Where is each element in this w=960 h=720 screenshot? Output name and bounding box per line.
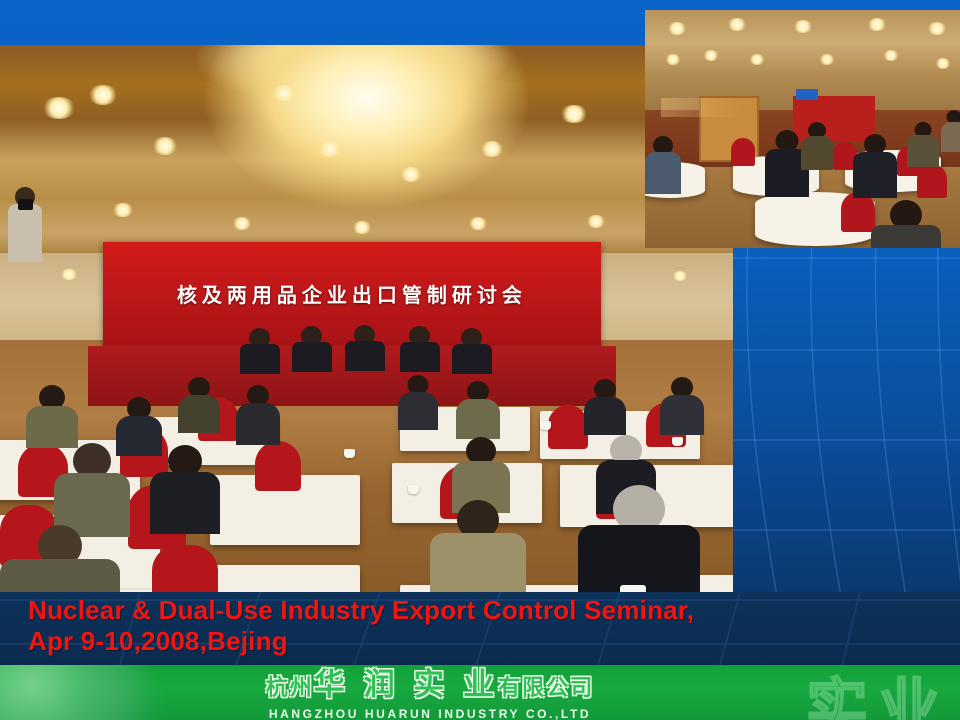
company-main-cn: 华 润 实 业	[314, 667, 498, 703]
photographer	[8, 187, 42, 261]
banner-title-text: 核及两用品企业出口管制研讨会	[177, 279, 527, 308]
chair	[255, 441, 301, 491]
chair	[548, 405, 588, 449]
attendee	[853, 134, 897, 196]
chair	[152, 545, 218, 592]
attendee	[871, 200, 941, 248]
panelist	[292, 326, 332, 370]
audience-member	[584, 379, 626, 431]
attendee	[801, 122, 833, 168]
audience-member	[430, 500, 526, 592]
audience-member	[54, 443, 130, 533]
audience-member	[150, 445, 220, 531]
audience-member	[26, 385, 78, 445]
brand-watermark-text: 实业	[806, 665, 950, 720]
caption-text: Nuclear & Dual-Use Industry Export Contr…	[28, 595, 694, 657]
company-suffix-cn: 有限公司	[498, 676, 594, 701]
chair	[917, 164, 947, 198]
panelist	[345, 325, 385, 369]
tea-cup	[408, 485, 419, 494]
tea-cup	[540, 421, 551, 430]
globe-watermark-inner	[52, 665, 172, 720]
attendee	[941, 110, 960, 150]
company-name-cn: 杭州华 润 实 业有限公司	[195, 669, 665, 705]
main-photo-conference-hall: 核及两用品企业出口管制研讨会	[0, 45, 733, 592]
chandelier-light	[205, 45, 528, 209]
inset-wall-logo	[661, 98, 743, 117]
tea-cup	[672, 437, 683, 446]
audience-member	[578, 485, 700, 592]
tea-cup	[344, 449, 355, 458]
inset-photo-attendees	[645, 10, 960, 248]
attendee	[645, 136, 681, 192]
chair	[731, 138, 755, 166]
audience-member	[0, 525, 120, 592]
company-logo: 杭州华 润 实 业有限公司 HANGZHOU HUARUN INDUSTRY C…	[195, 669, 665, 720]
caption-band: Nuclear & Dual-Use Industry Export Contr…	[0, 592, 960, 665]
audience-member	[398, 375, 438, 427]
chair	[841, 192, 875, 232]
audience-member	[452, 437, 510, 509]
panelist	[400, 326, 440, 370]
company-name-en: HANGZHOU HUARUN INDUSTRY CO.,LTD	[195, 707, 665, 720]
company-city-cn: 杭州	[266, 676, 314, 701]
caption-line-2: Apr 9-10,2008,Bejing	[28, 626, 694, 657]
attendee	[907, 122, 939, 166]
panelist	[240, 328, 280, 372]
presentation-slide: 核及两用品企业出口管制研讨会	[0, 0, 960, 720]
caption-line-1: Nuclear & Dual-Use Industry Export Contr…	[28, 595, 694, 626]
audience-member	[456, 381, 500, 435]
audience-member	[660, 377, 704, 431]
inset-projector-screen	[796, 89, 818, 101]
audience-member	[236, 385, 280, 441]
footer-brand-bar: 实业 杭州华 润 实 业有限公司 HANGZHOU HUARUN INDUSTR…	[0, 665, 960, 720]
tea-cup	[620, 585, 646, 592]
audience-member	[178, 377, 220, 429]
panelist	[452, 328, 492, 372]
